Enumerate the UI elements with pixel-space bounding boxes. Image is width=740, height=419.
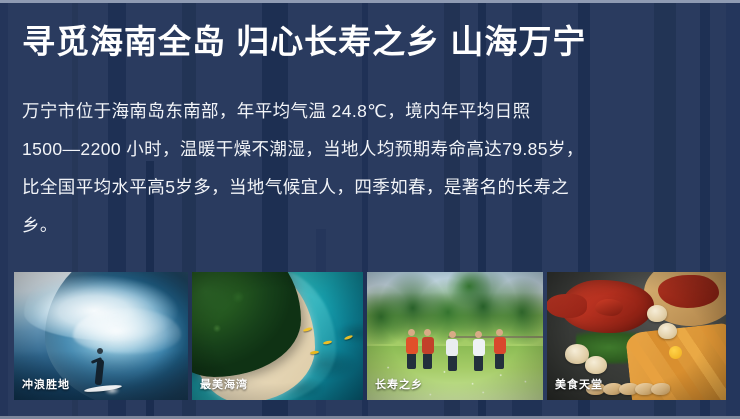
person-legs (407, 354, 416, 369)
person-head (496, 329, 503, 336)
person-legs (474, 356, 483, 371)
lobster-claw (595, 299, 623, 316)
person-head (408, 329, 415, 336)
wave-foam-spray (73, 308, 181, 354)
photo-caption: 长寿之乡 (375, 376, 423, 392)
person-figure (473, 331, 485, 371)
person-torso (406, 337, 418, 354)
person-head (449, 331, 456, 338)
photo-card-cuisine[interactable]: 美食天堂 (547, 272, 726, 400)
body-paragraph: 万宁市位于海南岛东南部，年平均气温 24.8℃，境内年平均日照 1500—220… (22, 92, 722, 244)
person-legs (448, 356, 457, 371)
person-torso (473, 339, 485, 356)
photo-gallery-strip: 冲浪胜地 最美海湾 (14, 272, 726, 400)
lobster-shape (561, 280, 654, 334)
person-legs (423, 354, 432, 369)
person-figure (422, 329, 434, 369)
scallop-shape (585, 356, 607, 374)
photo-card-bay[interactable]: 最美海湾 (192, 272, 363, 400)
photo-card-surfing[interactable]: 冲浪胜地 (14, 272, 188, 400)
presentation-slide: 寻觅海南全岛 归心长寿之乡 山海万宁 万宁市位于海南岛东南部，年平均气温 24.… (0, 0, 740, 419)
person-torso (422, 337, 434, 354)
person-figure (494, 329, 506, 369)
scallop-shape (647, 305, 667, 322)
person-figure (446, 331, 458, 371)
photo-card-longevity[interactable]: 长寿之乡 (367, 272, 543, 400)
surfer-head (97, 348, 103, 354)
body-line-1: 万宁市位于海南岛东南部，年平均气温 24.8℃，境内年平均日照 (22, 92, 722, 130)
scallop-shape (658, 323, 677, 339)
body-line-2: 1500—2200 小时，温暖干燥不潮湿，当地人均预期寿命高达79.85岁， (22, 130, 722, 168)
person-torso (494, 337, 506, 354)
person-torso (446, 339, 458, 356)
egg-yolk-garnish (669, 346, 682, 359)
person-figure (406, 329, 418, 369)
body-line-3: 比全国平均水平高5岁多，当地气候宜人，四季如春，是著名的长寿之 (22, 168, 722, 206)
shrimp-shape (651, 383, 670, 395)
body-line-4: 乡。 (22, 206, 722, 244)
person-head (424, 329, 431, 336)
person-head (475, 331, 482, 338)
second-lobster-shape (658, 275, 719, 308)
page-title: 寻觅海南全岛 归心长寿之乡 山海万宁 (22, 22, 586, 62)
top-divider-rule (0, 0, 740, 3)
person-legs (495, 354, 504, 369)
photo-caption: 最美海湾 (200, 376, 248, 392)
photo-caption: 美食天堂 (555, 376, 603, 392)
photo-caption: 冲浪胜地 (22, 376, 70, 392)
